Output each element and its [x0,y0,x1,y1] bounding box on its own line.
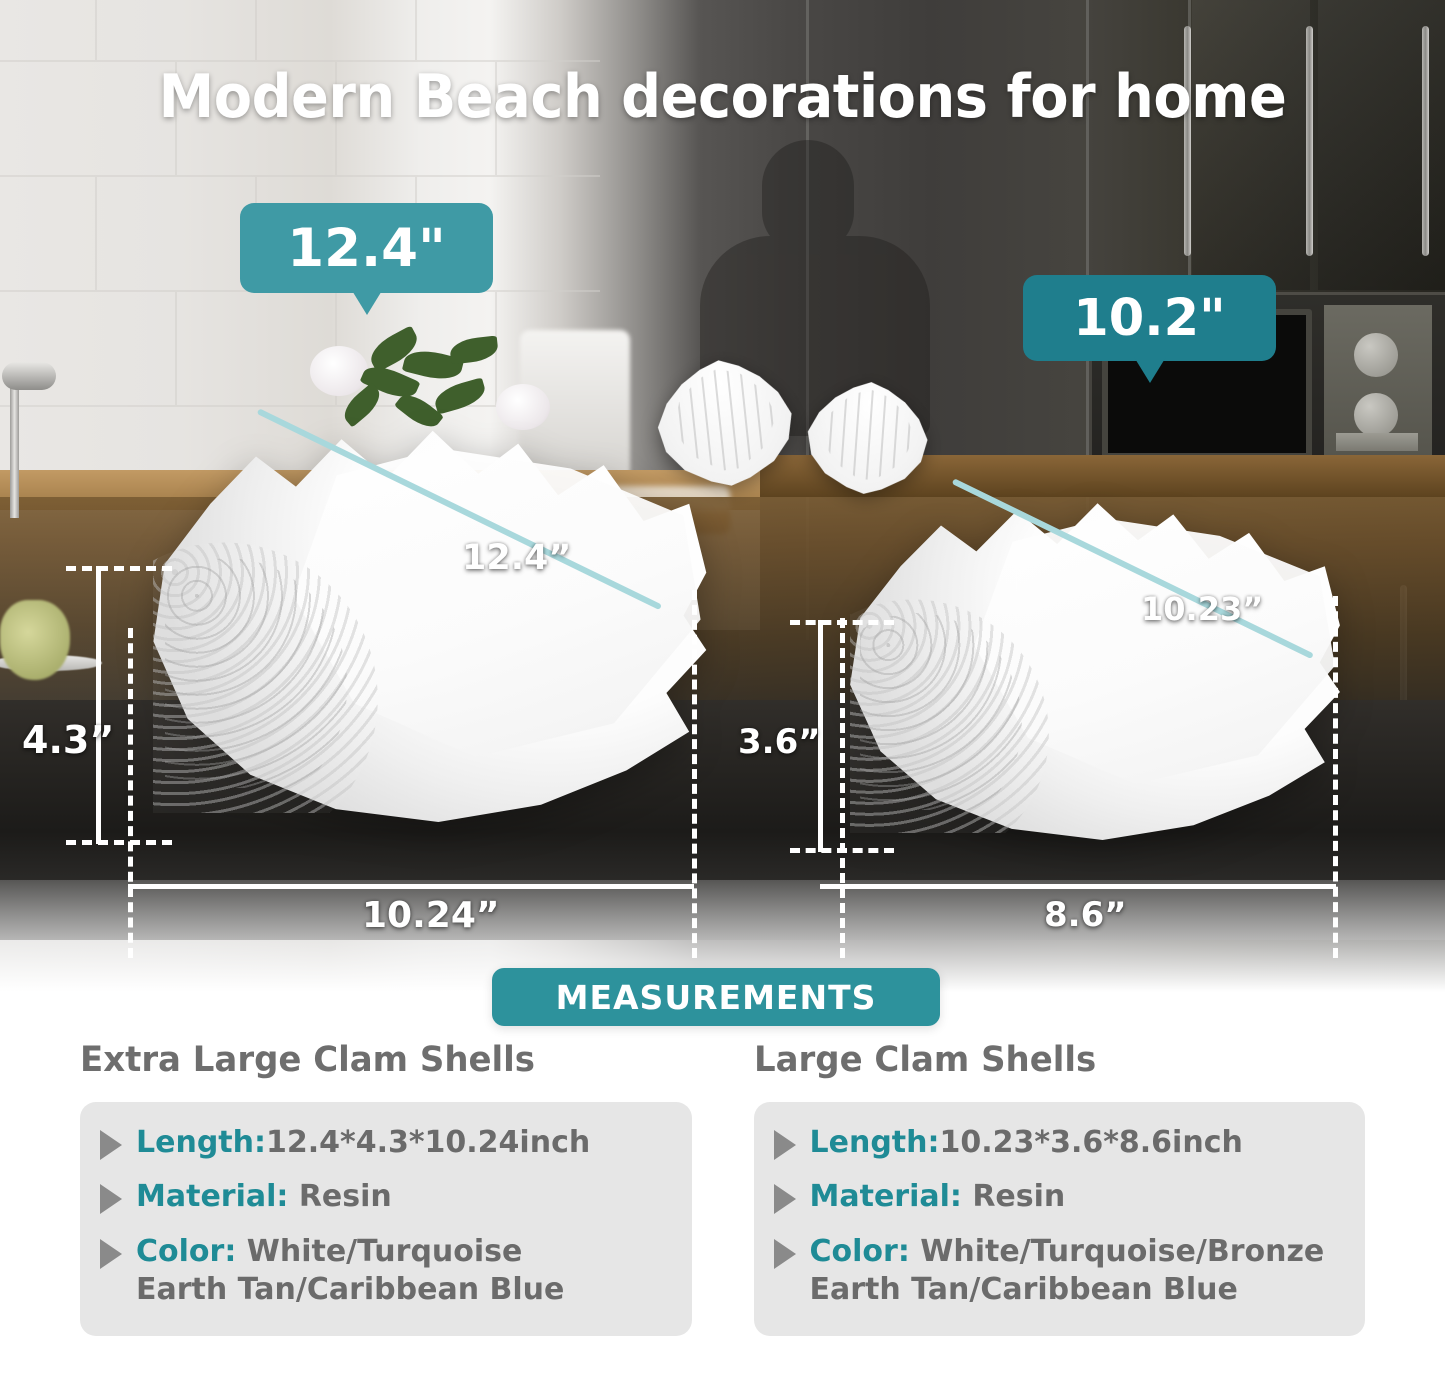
callout-bubble-large-value: 12.4" [287,218,445,279]
spec-material-value: Resin [288,1179,391,1214]
microwave-display [1336,433,1418,451]
measurements-badge-label: MEASUREMENTS [556,978,877,1017]
triangle-bullet-icon [100,1184,122,1214]
width-bar-large [128,884,694,889]
cabinet-handle [1184,26,1191,256]
triangle-bullet-icon [774,1184,796,1214]
page-title: Modern Beach decorations for home [51,62,1395,132]
spec-length-label: Length: [810,1125,940,1160]
spec-length-text: Length:10.23*3.6*8.6inch [810,1124,1243,1162]
spec-length-value: 12.4*4.3*10.24inch [266,1125,590,1160]
large-clam-shell [840,470,1345,840]
microwave-control-panel [1324,305,1432,463]
guide-vert-right-large [692,590,697,958]
label-height-small: 3.6” [738,722,821,762]
callout-tail-icon [1134,357,1166,383]
spec-color-text: Color: White/Turquoise/Bronze Earth Tan/… [810,1233,1325,1310]
spec-row-color: Color: White/Turquoise Earth Tan/Caribbe… [94,1233,674,1310]
spec-material-value: Resin [962,1179,1065,1214]
spec-column-large: Large Clam Shells Length:10.23*3.6*8.6in… [754,1040,1366,1393]
spec-card-large: Length:10.23*3.6*8.6inch Material: Resin… [754,1102,1366,1336]
guide-top-left [66,566,172,571]
label-width-small: 8.6” [1044,895,1127,935]
spec-color-value: White/Turquoise/Bronze [910,1234,1324,1269]
faucet-head [2,362,56,390]
cabinet-panel [1192,0,1310,290]
faucet [10,368,19,518]
fruit-bowl [0,600,70,680]
spec-row-material: Material: Resin [94,1178,674,1216]
microwave-dial [1354,393,1398,437]
guide-vert-left-inner [128,628,133,958]
measurements-badge: MEASUREMENTS [492,968,940,1026]
triangle-bullet-icon [774,1130,796,1160]
spec-length-value: 10.23*3.6*8.6inch [940,1125,1243,1160]
guide-vert-right-inner [840,618,845,958]
hero-photo-area: Modern Beach decorations for home 12.4" … [0,0,1445,1010]
spec-heading-large: Large Clam Shells [754,1040,1347,1080]
label-diagonal-large: 12.4” [462,538,571,578]
spec-color-value-line2: Earth Tan/Caribbean Blue [136,1272,564,1307]
spec-column-extra-large: Extra Large Clam Shells Length:12.4*4.3*… [80,1040,692,1393]
spec-color-label: Color: [136,1234,236,1269]
cabinet-handle [1306,26,1313,256]
spec-length-label: Length: [136,1125,266,1160]
microwave-dial [1354,333,1398,377]
spec-row-color: Color: White/Turquoise/Bronze Earth Tan/… [768,1233,1348,1310]
callout-tail-icon [351,289,383,315]
spec-section: Extra Large Clam Shells Length:12.4*4.3*… [0,1040,1445,1393]
spec-row-length: Length:12.4*4.3*10.24inch [94,1124,674,1162]
spec-color-value: White/Turquoise [236,1234,522,1269]
label-width-large: 10.24” [362,895,500,936]
callout-bubble-small: 10.2" [1023,275,1276,361]
triangle-bullet-icon [100,1239,122,1269]
spec-color-value-line2: Earth Tan/Caribbean Blue [810,1272,1238,1307]
spec-material-label: Material: [136,1179,288,1214]
extra-large-clam-shell [142,392,712,822]
spec-card-extra-large: Length:12.4*4.3*10.24inch Material: Resi… [80,1102,692,1336]
guide-bottom-left [66,840,172,845]
product-infographic: Modern Beach decorations for home 12.4" … [0,0,1445,1393]
cabinet-handle [1422,26,1429,256]
triangle-bullet-icon [100,1130,122,1160]
label-diagonal-small: 10.23” [1141,590,1263,628]
width-bar-small [820,884,1336,889]
spec-color-label: Color: [810,1234,910,1269]
triangle-bullet-icon [774,1239,796,1269]
label-height-large: 4.3” [22,718,114,762]
spec-material-text: Material: Resin [136,1178,392,1216]
spec-row-material: Material: Resin [768,1178,1348,1216]
callout-bubble-large: 12.4" [240,203,493,293]
spec-material-text: Material: Resin [810,1178,1066,1216]
callout-bubble-small-value: 10.2" [1073,289,1225,348]
spec-material-label: Material: [810,1179,962,1214]
spec-heading-extra-large: Extra Large Clam Shells [80,1040,673,1080]
guide-vert-far-right [1333,596,1338,958]
spec-row-length: Length:10.23*3.6*8.6inch [768,1124,1348,1162]
height-bar-large [96,566,101,844]
spec-length-text: Length:12.4*4.3*10.24inch [136,1124,590,1162]
spec-color-text: Color: White/Turquoise Earth Tan/Caribbe… [136,1233,564,1310]
